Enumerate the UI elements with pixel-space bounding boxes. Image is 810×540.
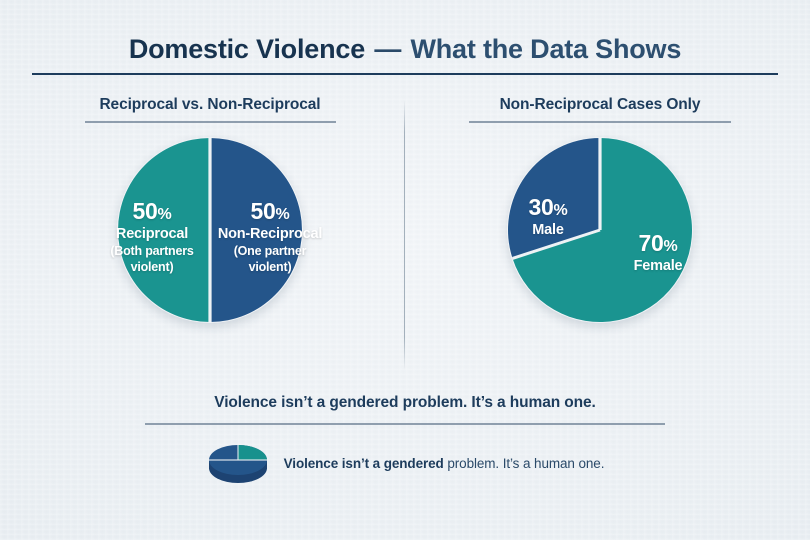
page-title-strong: Domestic Violence (129, 34, 365, 64)
legend-row: Violence isn’t a gendered problem. It’s … (0, 440, 810, 486)
panel-right-heading: Non-Reciprocal Cases Only (410, 96, 790, 114)
pie-chart-icon-svg (206, 440, 270, 486)
legend-caption: Violence isn’t a gendered problem. It’s … (284, 456, 605, 471)
legend-caption-rest: problem. It’s a human one. (444, 456, 605, 471)
pie-chart-right-svg (507, 137, 693, 323)
title-block: Domestic Violence — What the Data Shows (0, 34, 810, 65)
title-divider-rule (32, 73, 778, 75)
pie-chart-icon (206, 440, 270, 486)
pie-slice-reciprocal[interactable] (118, 138, 210, 322)
pie-chart-right-area: 30% Male 70% Female (410, 137, 790, 352)
panel-left-heading-underline (85, 121, 336, 123)
page-title: Domestic Violence — What the Data Shows (0, 34, 810, 65)
pie-slice-nonreciprocal[interactable] (210, 138, 302, 322)
legend-caption-lead: Violence isn’t a gendered (284, 456, 444, 471)
closing-statement: Violence isn’t a gendered problem. It’s … (0, 394, 810, 412)
panel-reciprocal-vs-nonreciprocal: Reciprocal vs. Non-Reciprocal 50% Recipr… (20, 96, 400, 352)
page-title-dash: — (372, 34, 403, 64)
infographic-canvas: Domestic Violence — What the Data Shows … (0, 0, 810, 540)
panel-vertical-divider (404, 100, 405, 370)
pie-chart-left-svg (117, 137, 303, 323)
pie-slice-separator (208, 138, 211, 322)
statement-divider-rule (145, 423, 665, 425)
panel-left-heading: Reciprocal vs. Non-Reciprocal (20, 96, 400, 114)
pie-chart-right[interactable] (507, 137, 693, 323)
pie-chart-left[interactable] (117, 137, 303, 323)
panel-non-reciprocal-cases-only: Non-Reciprocal Cases Only 30% Male (410, 96, 790, 352)
pie-slice-separator-top (598, 138, 601, 230)
pie-chart-left-area: 50% Reciprocal (Both partners violent) 5… (20, 137, 400, 352)
panel-right-heading-underline (469, 121, 731, 123)
page-title-rest: What the Data Shows (410, 34, 681, 64)
